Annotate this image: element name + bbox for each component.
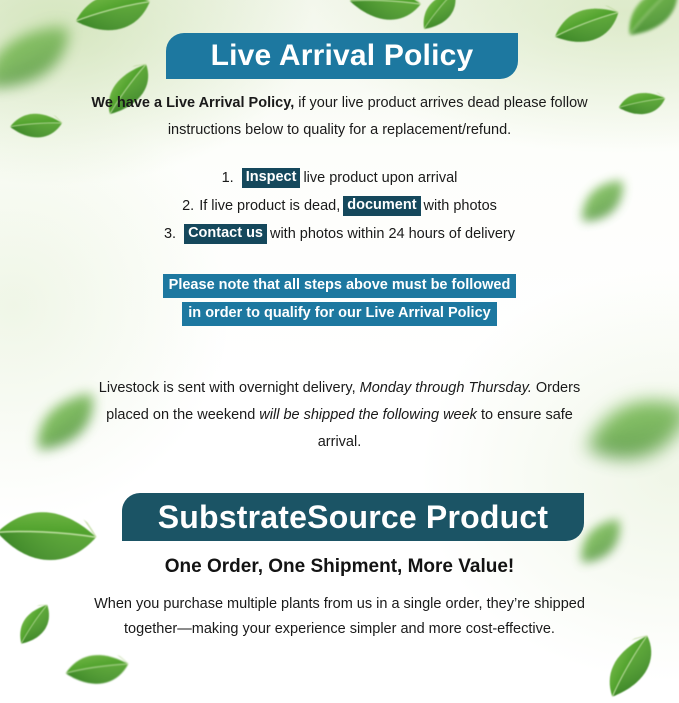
live-arrival-policy-banner: Live Arrival Policy	[166, 33, 518, 79]
list-item: 1. Inspect live product upon arrival	[0, 164, 679, 192]
shipping-line1-plain: Livestock is sent with overnight deliver…	[99, 380, 360, 396]
substratesource-product-banner: SubstrateSource Product	[122, 493, 584, 541]
step-highlight: document	[343, 196, 420, 216]
shipping-line2-italic: will be shipped the following week	[259, 407, 477, 423]
policy-steps-list: 1. Inspect live product upon arrival 2. …	[0, 164, 679, 248]
livestock-shipping-paragraph: Livestock is sent with overnight deliver…	[0, 375, 679, 456]
step-post-text: with photos	[424, 192, 497, 220]
value-headline: One Order, One Shipment, More Value!	[0, 556, 679, 578]
intro-bold-text: We have a Live Arrival Policy,	[91, 95, 294, 111]
step-number: 3.	[164, 220, 176, 248]
step-highlight: Contact us	[184, 224, 267, 244]
step-pre-text: If live product is dead,	[199, 192, 340, 220]
step-post-text: live product upon arrival	[303, 164, 457, 192]
substratesource-product-title: SubstrateSource Product	[158, 499, 548, 536]
step-number: 2.	[182, 192, 194, 220]
list-item: 2. If live product is dead, document wit…	[0, 192, 679, 220]
policy-note-block: Please note that all steps above must be…	[0, 274, 679, 326]
list-item: 3. Contact us with photos within 24 hour…	[0, 220, 679, 248]
note-line: in order to qualify for our Live Arrival…	[182, 302, 496, 326]
step-highlight: Inspect	[242, 168, 301, 188]
shipping-line1-italic: Monday through Thursday.	[360, 380, 532, 396]
step-post-text: with photos within 24 hours of delivery	[270, 220, 515, 248]
live-arrival-policy-title: Live Arrival Policy	[211, 39, 474, 73]
note-line: Please note that all steps above must be…	[163, 274, 517, 298]
infographic-content: Live Arrival Policy We have a Live Arriv…	[0, 0, 679, 679]
step-number: 1.	[222, 164, 234, 192]
closing-paragraph: When you purchase multiple plants from u…	[0, 592, 679, 642]
intro-paragraph: We have a Live Arrival Policy, if your l…	[0, 90, 679, 144]
